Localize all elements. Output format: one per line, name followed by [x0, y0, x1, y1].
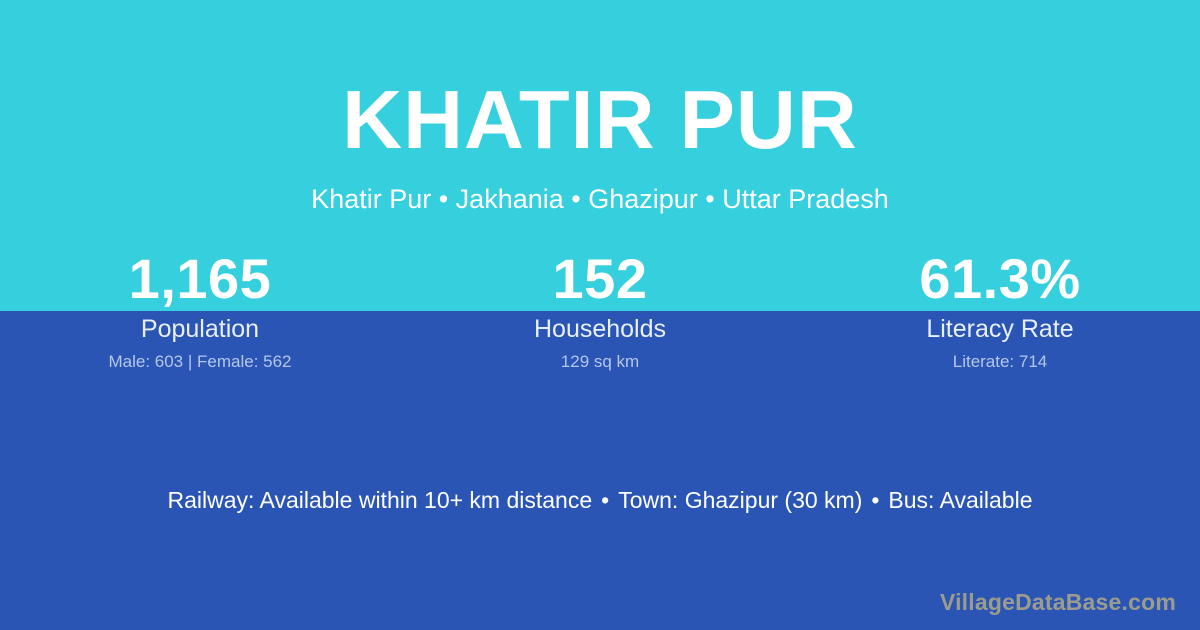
stat-sublabel: Male: 603 | Female: 562	[0, 351, 400, 373]
stat-population: 1,165 Population Male: 603 | Female: 562	[0, 248, 400, 373]
breadcrumb: Khatir Pur • Jakhania • Ghazipur • Uttar…	[0, 183, 1200, 215]
stat-value: 1,165	[0, 248, 400, 310]
amenities-line: Railway: Available within 10+ km distanc…	[0, 485, 1200, 515]
card-content: KHATIR PUR Khatir Pur • Jakhania • Ghazi…	[0, 0, 1200, 630]
stat-label: Literacy Rate	[800, 314, 1200, 344]
page-title: KHATIR PUR	[0, 78, 1200, 161]
stat-households: 152 Households 129 sq km	[400, 248, 800, 373]
stat-value: 152	[400, 248, 800, 310]
village-info-card: KHATIR PUR Khatir Pur • Jakhania • Ghazi…	[0, 0, 1200, 630]
stat-label: Population	[0, 314, 400, 344]
stat-literacy-rate: 61.3% Literacy Rate Literate: 714	[800, 248, 1200, 373]
stat-sublabel: 129 sq km	[400, 351, 800, 373]
bus-fact: Bus: Available	[888, 487, 1032, 513]
stat-sublabel: Literate: 714	[800, 351, 1200, 373]
bullet-separator-icon: •	[862, 487, 888, 513]
town-fact: Town: Ghazipur (30 km)	[618, 487, 862, 513]
bullet-separator-icon: •	[592, 487, 618, 513]
stat-value: 61.3%	[800, 248, 1200, 310]
railway-fact: Railway: Available within 10+ km distanc…	[167, 487, 592, 513]
stats-row: 1,165 Population Male: 603 | Female: 562…	[0, 248, 1200, 373]
stat-label: Households	[400, 314, 800, 344]
site-watermark: VillageDataBase.com	[940, 589, 1176, 616]
